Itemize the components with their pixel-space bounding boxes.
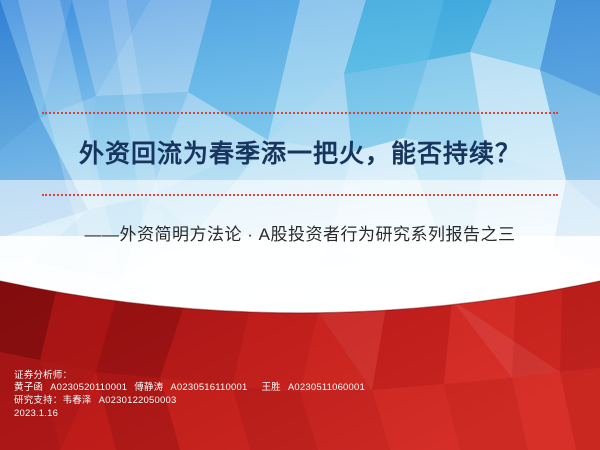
support-name-1: 韦春泽 bbox=[63, 395, 92, 406]
analyst-label: 证券分析师： bbox=[14, 370, 365, 382]
support-list: 研究支持：韦春泽A0230122050003 bbox=[14, 395, 365, 407]
publish-date: 2023.1.16 bbox=[14, 408, 365, 420]
cover-slide: 外资回流为春季添一把火，能否持续？ ——外资简明方法论 · A股投资者行为研究系… bbox=[0, 0, 600, 450]
support-label: 研究支持： bbox=[14, 395, 63, 406]
title-block: 外资回流为春季添一把火，能否持续？ ——外资简明方法论 · A股投资者行为研究系… bbox=[0, 112, 600, 248]
support-license-1: A0230122050003 bbox=[99, 395, 177, 406]
analyst-list: 黄子函A0230520110001傅静涛A0230516110001王胜A023… bbox=[14, 382, 365, 394]
analyst-name-3: 王胜 bbox=[261, 382, 280, 393]
analyst-license-1: A0230520110001 bbox=[50, 382, 127, 393]
credits-block: 证券分析师： 黄子函A0230520110001傅静涛A023051611000… bbox=[14, 370, 365, 421]
analyst-license-3: A0230511060001 bbox=[288, 382, 365, 393]
analyst-name-2: 傅静涛 bbox=[134, 382, 163, 393]
analyst-name-1: 黄子函 bbox=[14, 382, 43, 393]
analyst-license-2: A0230516110001 bbox=[170, 382, 247, 393]
title-rule-top bbox=[42, 112, 558, 114]
page-title: 外资回流为春季添一把火，能否持续？ bbox=[0, 131, 600, 177]
title-rule-bottom bbox=[42, 194, 558, 196]
page-subtitle: ——外资简明方法论 · A股投资者行为研究系列报告之三 bbox=[0, 222, 600, 248]
